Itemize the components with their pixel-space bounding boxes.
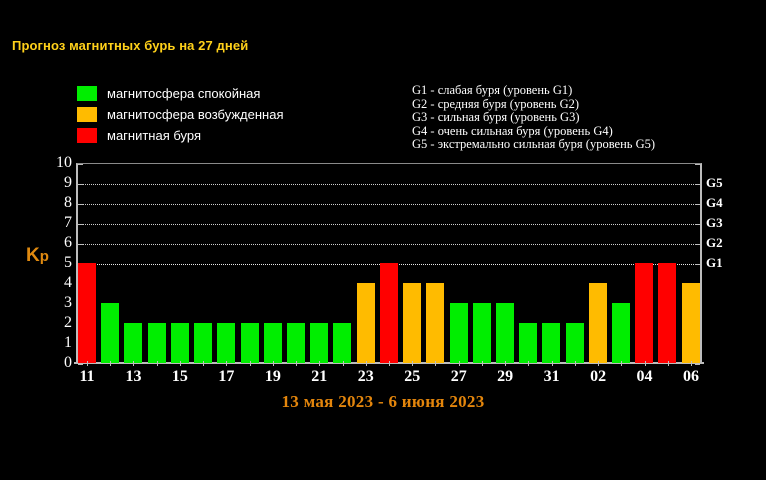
- x-tick-23: 23: [358, 368, 374, 386]
- x-tickmark: [645, 361, 646, 366]
- bar-02: [589, 283, 607, 363]
- bar-25: [403, 283, 421, 363]
- y-axis-title-main: K: [26, 245, 40, 266]
- bar-26: [426, 283, 444, 363]
- x-tickmark: [575, 361, 576, 366]
- x-tickmark: [203, 361, 204, 366]
- x-tickmark: [133, 361, 134, 366]
- x-tickmark: [528, 361, 529, 366]
- y-tick-0: 0: [44, 354, 72, 372]
- y-tick-3: 3: [44, 294, 72, 312]
- x-tickmark: [459, 361, 460, 366]
- y-tick-1: 1: [44, 334, 72, 352]
- bar-16: [194, 323, 212, 363]
- x-tick-11: 11: [79, 368, 94, 386]
- x-tick-31: 31: [544, 368, 560, 386]
- bar-23: [357, 283, 375, 363]
- bar-11: [78, 263, 96, 363]
- x-tick-19: 19: [265, 368, 281, 386]
- bar-31: [542, 323, 560, 363]
- bar-03: [612, 303, 630, 363]
- x-tickmark: [250, 361, 251, 366]
- x-tickmark: [482, 361, 483, 366]
- bar-17: [217, 323, 235, 363]
- bar-series: [78, 163, 700, 363]
- g-tick-g4: G4: [706, 195, 723, 211]
- bar-21: [310, 323, 328, 363]
- x-tickmark: [412, 361, 413, 366]
- y-tick-9: 9: [44, 174, 72, 192]
- x-tick-06: 06: [683, 368, 699, 386]
- x-tickmark: [621, 361, 622, 366]
- y-tick-4: 4: [44, 274, 72, 292]
- x-tickmark: [296, 361, 297, 366]
- bar-14: [148, 323, 166, 363]
- x-tickmark: [668, 361, 669, 366]
- x-tick-29: 29: [497, 368, 513, 386]
- x-tickmark: [691, 361, 692, 366]
- bar-05: [658, 263, 676, 363]
- bar-29: [496, 303, 514, 363]
- bar-18: [241, 323, 259, 363]
- x-tick-25: 25: [404, 368, 420, 386]
- x-tickmark: [598, 361, 599, 366]
- g-tick-g1: G1: [706, 255, 723, 271]
- y-tick-7: 7: [44, 214, 72, 232]
- bar-01: [566, 323, 584, 363]
- x-tickmark: [343, 361, 344, 366]
- date-range-label: 13 мая 2023 - 6 июня 2023: [0, 392, 766, 412]
- x-tickmark: [273, 361, 274, 366]
- x-tickmark: [157, 361, 158, 366]
- y-tick-5: 5: [44, 254, 72, 272]
- y-tick-6: 6: [44, 234, 72, 252]
- bar-19: [264, 323, 282, 363]
- g-tick-g2: G2: [706, 235, 723, 251]
- bar-30: [519, 323, 537, 363]
- bar-28: [473, 303, 491, 363]
- bar-20: [287, 323, 305, 363]
- y-tick-8: 8: [44, 194, 72, 212]
- bar-13: [124, 323, 142, 363]
- bar-24: [380, 263, 398, 363]
- x-tick-04: 04: [637, 368, 653, 386]
- x-tick-21: 21: [311, 368, 327, 386]
- x-tickmark: [366, 361, 367, 366]
- x-axis-ticks: 1113151719212325272931020406: [78, 366, 700, 388]
- x-tickmark: [552, 361, 553, 366]
- axis-tick-stub: [78, 364, 83, 365]
- x-tickmark: [87, 361, 88, 366]
- y-tick-2: 2: [44, 314, 72, 332]
- g-axis-ticks: G5G4G3G2G1: [706, 155, 746, 370]
- bar-15: [171, 323, 189, 363]
- g-tick-g5: G5: [706, 175, 723, 191]
- x-tickmark: [435, 361, 436, 366]
- x-tickmark: [505, 361, 506, 366]
- x-tick-15: 15: [172, 368, 188, 386]
- bar-22: [333, 323, 351, 363]
- x-tick-27: 27: [451, 368, 467, 386]
- bar-12: [101, 303, 119, 363]
- bar-04: [635, 263, 653, 363]
- x-tickmark: [180, 361, 181, 366]
- y-tick-10: 10: [44, 154, 72, 172]
- x-tickmark: [389, 361, 390, 366]
- bar-06: [682, 283, 700, 363]
- g-tick-g3: G3: [706, 215, 723, 231]
- x-tickmark: [110, 361, 111, 366]
- x-tickmark: [226, 361, 227, 366]
- x-tick-17: 17: [218, 368, 234, 386]
- x-tick-02: 02: [590, 368, 606, 386]
- bar-27: [450, 303, 468, 363]
- x-tick-13: 13: [125, 368, 141, 386]
- x-tickmark: [319, 361, 320, 366]
- axis-tick-stub: [695, 364, 700, 365]
- y-axis-ticks: 109876543210: [44, 155, 72, 370]
